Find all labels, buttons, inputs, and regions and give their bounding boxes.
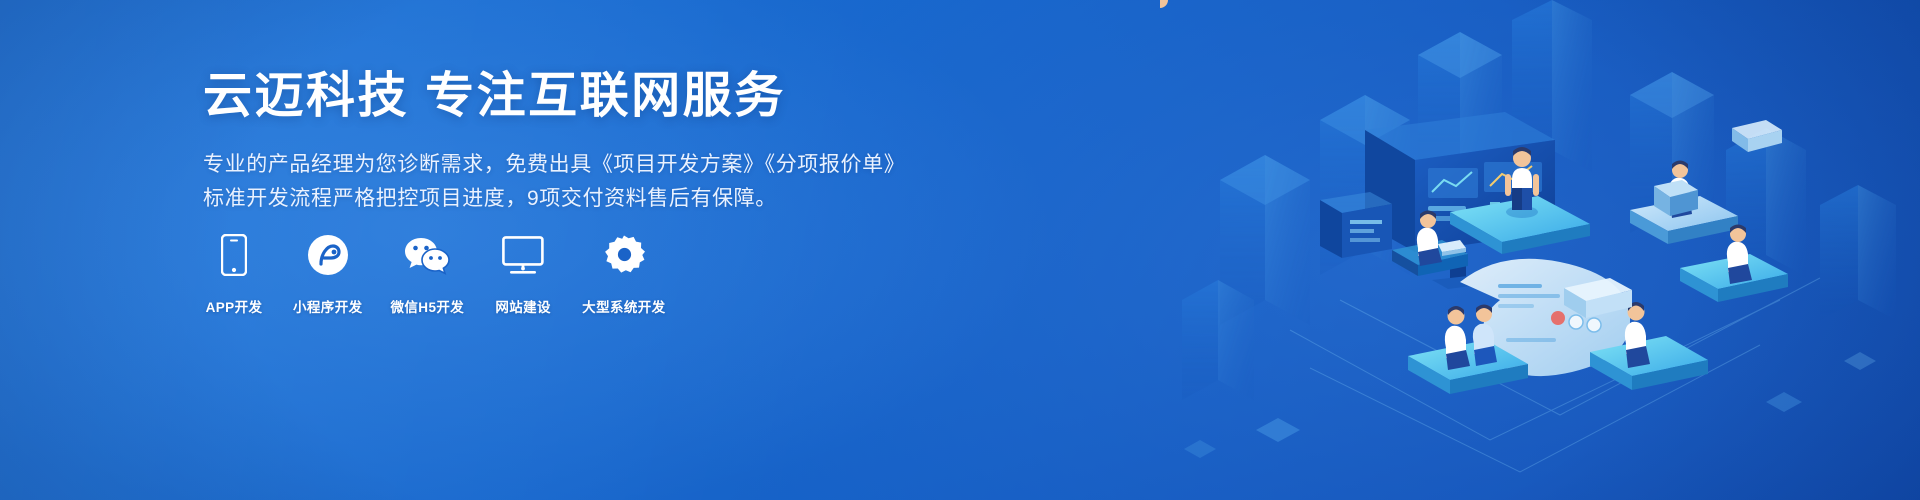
service-label-mini-program: 小程序开发 <box>293 296 363 316</box>
service-label-website: 网站建设 <box>495 296 551 316</box>
person-bottom-right <box>1625 302 1650 368</box>
service-item-app[interactable]: APP开发 <box>203 232 265 316</box>
hero-content: 云迈科技 专注互联网服务 专业的产品经理为您诊断需求，免费出具《项目开发方案》《… <box>203 68 963 216</box>
mobile-phone-icon <box>203 232 265 278</box>
page-title: 云迈科技 专注互联网服务 <box>203 68 963 126</box>
wechat-icon <box>396 232 458 278</box>
illustration-wrapper <box>1160 0 1920 500</box>
service-label-app: APP开发 <box>206 296 263 316</box>
service-item-wechat-h5[interactable]: 微信H5开发 <box>391 232 465 316</box>
person-bottom-left-a <box>1445 306 1470 370</box>
side-card-chart <box>1320 192 1392 258</box>
service-item-mini-program[interactable]: 小程序开发 <box>293 232 363 316</box>
service-item-website[interactable]: 网站建设 <box>492 232 554 316</box>
service-label-large-system: 大型系统开发 <box>582 296 665 316</box>
service-label-wechat-h5: 微信H5开发 <box>391 296 465 316</box>
gear-icon <box>593 232 655 278</box>
hero-banner: 云迈科技 专注互联网服务 专业的产品经理为您诊断需求，免费出具《项目开发方案》《… <box>0 0 1920 500</box>
subtitle-line-1: 专业的产品经理为您诊断需求，免费出具《项目开发方案》《分项报价单》 <box>203 148 963 182</box>
hero-subtitle: 专业的产品经理为您诊断需求，免费出具《项目开发方案》《分项报价单》 标准开发流程… <box>203 148 963 216</box>
service-list: APP开发 小程序开发 <box>203 232 666 316</box>
subtitle-line-2: 标准开发流程严格把控项目进度，9项交付资料售后有保障。 <box>203 182 963 216</box>
service-item-large-system[interactable]: 大型系统开发 <box>582 232 665 316</box>
mini-program-icon <box>297 232 359 278</box>
monitor-icon <box>492 232 554 278</box>
